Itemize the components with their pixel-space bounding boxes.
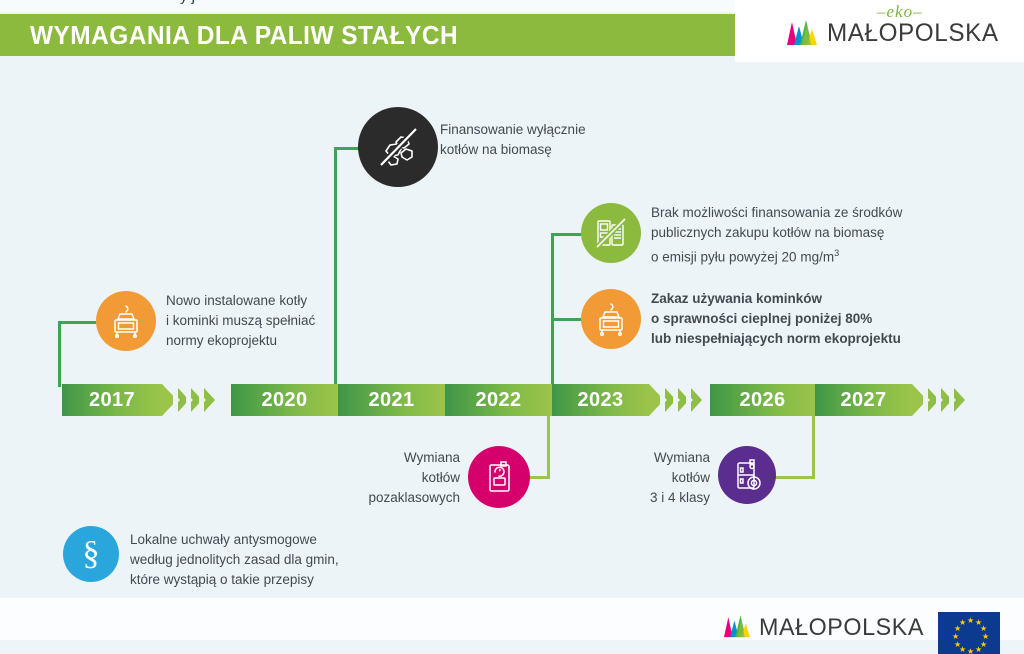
- timeline-year-2022[interactable]: 2022: [445, 384, 552, 416]
- timeline-chevrons-3: [928, 384, 972, 416]
- callout-line: Wymiana: [590, 448, 710, 468]
- callout-icon-no-public-funding[interactable]: [581, 203, 641, 263]
- boiler-recycle-icon: [479, 457, 519, 497]
- callout-line: kotłów: [590, 468, 710, 488]
- callout-line: Finansowanie wyłącznie: [440, 120, 700, 140]
- callout-text-no-public-funding: Brak możliwości finansowania ze środków …: [651, 203, 991, 268]
- callout-line: pozaklasowych: [330, 488, 460, 508]
- eu-star: ★: [954, 641, 961, 649]
- connector-nonclass-vertical: [547, 413, 550, 478]
- footer-malopolska-logo[interactable]: MAŁOPOLSKA: [722, 612, 929, 643]
- eko-script-label: –eko–: [877, 2, 923, 22]
- footer-wordmark: MAŁOPOLSKA: [759, 614, 924, 642]
- european-union-flag: ★ ★ ★ ★ ★ ★ ★ ★ ★ ★ ★ ★: [938, 612, 1000, 654]
- timeline-year-2020[interactable]: 2020: [231, 384, 338, 416]
- coal-prohibited-icon: [372, 121, 424, 173]
- chevron-icon: [954, 388, 964, 412]
- eko-text: eko: [887, 2, 914, 21]
- callout-icon-local-resolutions[interactable]: §: [63, 526, 119, 582]
- connector-2023-top-horizontal: [551, 233, 585, 236]
- infographic-canvas: y j WYMAGANIA DLA PALIW STAŁYCH MAŁOPOLS…: [0, 0, 1024, 640]
- timeline-chevrons-2: [665, 384, 709, 416]
- callout-line: Zakaz używania kominków: [651, 289, 991, 309]
- timeline-year-2021[interactable]: 2021: [338, 384, 445, 416]
- footer-logo-mark: [722, 612, 752, 643]
- eko-dash-right: –: [913, 2, 923, 22]
- timeline-chevrons-1: [178, 384, 222, 416]
- connector-2023-bottom-horizontal: [551, 318, 585, 321]
- header-band: WYMAGANIA DLA PALIW STAŁYCH: [0, 14, 735, 56]
- callout-line: o emisji pyłu powyżej 20 mg/m: [651, 250, 834, 265]
- eu-star: ★: [975, 646, 982, 654]
- callout-icon-fireplace-ban[interactable]: [581, 289, 641, 349]
- eu-star: ★: [967, 617, 974, 625]
- callout-text-replace-nonclass: Wymiana kotłów pozaklasowych: [330, 448, 460, 508]
- callout-line: według jednolitych zasad dla gmin,: [130, 550, 430, 570]
- callout-line: kotłów: [330, 468, 460, 488]
- eu-star: ★: [967, 648, 974, 654]
- footer-band: MAŁOPOLSKA ★ ★ ★ ★ ★ ★ ★ ★ ★ ★ ★ ★: [0, 598, 1024, 640]
- callout-line: 3 i 4 klasy: [590, 488, 710, 508]
- connector-2023-vertical: [551, 233, 554, 387]
- page-title: WYMAGANIA DLA PALIW STAŁYCH: [30, 20, 458, 51]
- boiler-prohibited-icon: [591, 213, 631, 253]
- fireplace-icon: [106, 301, 146, 341]
- timeline-bar: 2017 2020 2021 2022 2023 2026: [0, 384, 1024, 416]
- timeline-year-2027[interactable]: 2027: [815, 384, 912, 416]
- callout-text-biomass-only: Finansowanie wyłącznie kotłów na biomasę: [440, 120, 700, 160]
- malopolska-wordmark: MAŁOPOLSKA: [827, 19, 999, 48]
- chevron-icon: [691, 388, 701, 412]
- callout-line: Wymiana: [330, 448, 460, 468]
- callout-icon-replace-class34[interactable]: [718, 446, 776, 504]
- top-cutoff-text: y j: [180, 0, 195, 5]
- fireplace-icon: [591, 299, 631, 339]
- eko-dash-left: –: [877, 2, 887, 22]
- callout-line: kotłów na biomasę: [440, 140, 700, 160]
- connector-class34-vertical: [812, 413, 815, 478]
- timeline-year-2017[interactable]: 2017: [62, 384, 162, 416]
- timeline-year-2023-label: 2023: [577, 389, 623, 412]
- timeline-year-2022-label: 2022: [475, 389, 521, 412]
- callout-superscript: 3: [834, 248, 839, 258]
- callout-line: normy ekoprojektu: [166, 331, 366, 351]
- callout-line: Lokalne uchwały antysmogowe: [130, 530, 430, 550]
- connector-biomass-vertical: [334, 147, 337, 387]
- timeline-year-2023[interactable]: 2023: [552, 384, 649, 416]
- boiler-meter-icon: [728, 456, 766, 494]
- callout-text-new-boilers-2017: Nowo instalowane kotły i kominki muszą s…: [166, 291, 366, 351]
- connector-2017-horizontal: [58, 321, 96, 324]
- connector-class34-horizontal: [772, 476, 815, 479]
- timeline-year-2026-label: 2026: [739, 389, 785, 412]
- eu-star: ★: [959, 619, 966, 627]
- callout-line: o sprawności cieplnej poniżej 80%: [651, 309, 991, 329]
- callout-line: lub niespełniających norm ekoprojektu: [651, 329, 991, 349]
- callout-text-fireplace-ban: Zakaz używania kominków o sprawności cie…: [651, 289, 991, 349]
- timeline-year-2027-label: 2027: [840, 389, 886, 412]
- callout-text-local-resolutions: Lokalne uchwały antysmogowe według jedno…: [130, 530, 430, 590]
- callout-text-replace-class34: Wymiana kotłów 3 i 4 klasy: [590, 448, 710, 508]
- callout-line: Brak możliwości finansowania ze środków: [651, 203, 991, 223]
- callout-icon-biomass-only[interactable]: [358, 107, 438, 187]
- callout-line: które wystąpią o takie przepisy: [130, 570, 430, 590]
- timeline-year-2017-label: 2017: [89, 389, 135, 412]
- callout-line-with-superscript: o emisji pyłu powyżej 20 mg/m3: [651, 243, 991, 268]
- paragraph-section-icon: §: [83, 537, 100, 571]
- callout-line: Nowo instalowane kotły: [166, 291, 366, 311]
- timeline-year-2020-label: 2020: [261, 389, 307, 412]
- callout-icon-new-boilers-2017[interactable]: [96, 291, 156, 351]
- callout-line: i kominki muszą spełniać: [166, 311, 366, 331]
- malopolska-logo-mark: [785, 16, 819, 51]
- callout-line: publicznych zakupu kotłów na biomasę: [651, 223, 991, 243]
- timeline-year-2026[interactable]: 2026: [710, 384, 815, 416]
- chevron-icon: [204, 388, 214, 412]
- connector-2017-vertical: [58, 321, 61, 387]
- timeline-year-2021-label: 2021: [368, 389, 414, 412]
- callout-icon-replace-nonclass[interactable]: [468, 446, 530, 508]
